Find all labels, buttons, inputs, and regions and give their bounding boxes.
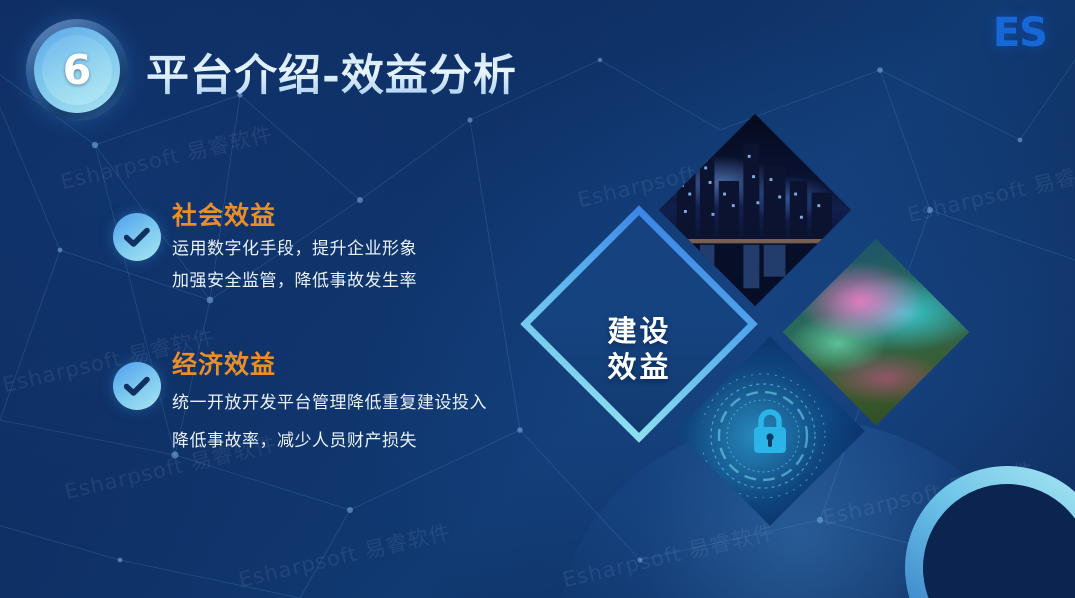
section-line: 降低事故率，减少人员财产损失 bbox=[172, 422, 487, 460]
watermark-text: Esharpsoft 易睿软件 bbox=[235, 516, 453, 594]
padlock-icon bbox=[748, 406, 792, 456]
es-logo: ES bbox=[993, 10, 1047, 56]
slide-number-badge: 6 bbox=[26, 19, 128, 121]
slide-number-text: 6 bbox=[26, 19, 128, 121]
slide-canvas: Esharpsoft 易睿软件Esharpsoft 易睿软件Esharpsoft… bbox=[0, 0, 1075, 598]
section-line: 运用数字化手段，提升企业形象 bbox=[172, 233, 417, 265]
section-line: 加强安全监管，降低事故发生率 bbox=[172, 265, 417, 297]
diamond-collage: 建设 效益 bbox=[505, 118, 1075, 598]
check-circle-icon bbox=[113, 362, 161, 410]
watermark-text: Esharpsoft 易睿软件 bbox=[57, 118, 275, 196]
section-heading: 社会效益 bbox=[172, 196, 276, 232]
check-mark-icon bbox=[124, 375, 150, 397]
page-title: 平台介绍-效益分析 bbox=[146, 41, 517, 103]
diamond-label-line1: 建设 bbox=[567, 314, 712, 350]
section-heading: 经济效益 bbox=[172, 345, 276, 381]
check-circle-icon bbox=[113, 213, 161, 261]
diamond-label: 建设 效益 bbox=[567, 314, 712, 386]
section-body: 统一开放开发平台管理降低重复建设投入 降低事故率，减少人员财产损失 bbox=[172, 384, 487, 460]
check-mark-icon bbox=[124, 226, 150, 248]
section-body: 运用数字化手段，提升企业形象 加强安全监管，降低事故发生率 bbox=[172, 233, 417, 297]
section-line: 统一开放开发平台管理降低重复建设投入 bbox=[172, 384, 487, 422]
diamond-label-line2: 效益 bbox=[567, 350, 712, 386]
